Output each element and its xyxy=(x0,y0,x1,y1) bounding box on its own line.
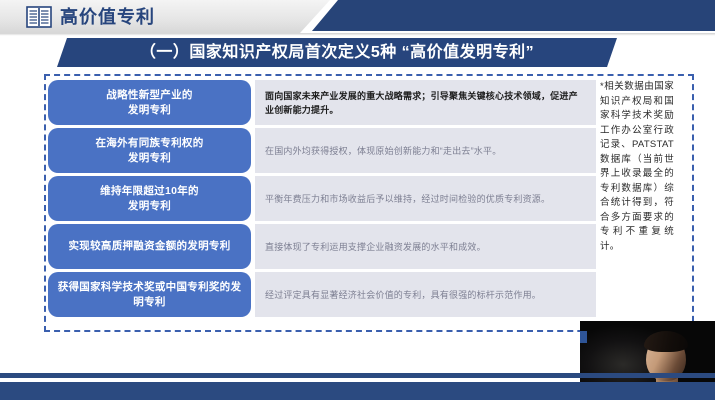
category-label[interactable]: 维持年限超过10年的 发明专利 xyxy=(48,176,251,221)
section-title-text: （一）国家知识产权局首次定义5种 “高价值发明专利” xyxy=(57,38,617,67)
book-document-icon xyxy=(26,5,52,29)
footer-bar-thick xyxy=(0,382,715,400)
category-description: 经过评定具有显著经济社会价值的专利，具有很强的标杆示范作用。 xyxy=(255,272,596,317)
table-row: 实现较高质押融资金额的发明专利 直接体现了专利运用支撑企业融资发展的水平和成效。 xyxy=(48,224,596,269)
category-label-line1: 实现较高质押融资金额的发明专利 xyxy=(69,240,231,252)
table-row: 获得国家科学技术奖或中国专利奖的发 明专利 经过评定具有显著经济社会价值的专利，… xyxy=(48,272,596,317)
category-label-line2: 发明专利 xyxy=(128,104,171,116)
table-row: 战略性新型产业的 发明专利 面向国家未来产业发展的重大战略需求；引导聚焦关键核心… xyxy=(48,80,596,125)
category-label-line1: 维持年限超过10年的 xyxy=(100,185,199,197)
category-label[interactable]: 战略性新型产业的 发明专利 xyxy=(48,80,251,125)
category-label-line2: 发明专利 xyxy=(128,200,171,212)
category-description: 在国内外均获得授权，体现原始创新能力和“走出去”水平。 xyxy=(255,128,596,173)
category-label-line1: 获得国家科学技术奖或中国专利奖的发 xyxy=(58,281,242,293)
table-row: 在海外有同族专利权的 发明专利 在国内外均获得授权，体现原始创新能力和“走出去”… xyxy=(48,128,596,173)
category-label[interactable]: 获得国家科学技术奖或中国专利奖的发 明专利 xyxy=(48,272,251,317)
category-label-line1: 在海外有同族专利权的 xyxy=(96,137,204,149)
category-label[interactable]: 在海外有同族专利权的 发明专利 xyxy=(48,128,251,173)
page-title: 高价值专利 xyxy=(60,5,155,29)
slide-header: 高价值专利 xyxy=(0,0,715,33)
header-underline xyxy=(0,33,715,37)
category-description: 面向国家未来产业发展的重大战略需求；引导聚焦关键核心技术领域，促进产业创新能力提… xyxy=(255,80,596,125)
footer-bar-thin xyxy=(0,373,715,378)
section-title-banner: （一）国家知识产权局首次定义5种 “高价值发明专利” xyxy=(57,38,617,67)
patent-category-list: 战略性新型产业的 发明专利 面向国家未来产业发展的重大战略需求；引导聚焦关键核心… xyxy=(48,80,596,320)
category-label[interactable]: 实现较高质押融资金额的发明专利 xyxy=(48,224,251,269)
category-label-line2: 发明专利 xyxy=(128,152,171,164)
footnote-text: *相关数据由国家知识产权局和国家科学技术奖励工作办公室行政记录、PATSTAT数… xyxy=(600,80,674,254)
header-blue-shape xyxy=(312,0,715,31)
category-description: 平衡年费压力和市场收益后予以维持，经过时间检验的优质专利资源。 xyxy=(255,176,596,221)
slide-edge-accent-top xyxy=(580,331,587,343)
category-description: 直接体现了专利运用支撑企业融资发展的水平和成效。 xyxy=(255,224,596,269)
table-row: 维持年限超过10年的 发明专利 平衡年费压力和市场收益后予以维持，经过时间检验的… xyxy=(48,176,596,221)
category-label-line1: 战略性新型产业的 xyxy=(106,89,192,101)
category-label-line2: 明专利 xyxy=(133,296,165,308)
